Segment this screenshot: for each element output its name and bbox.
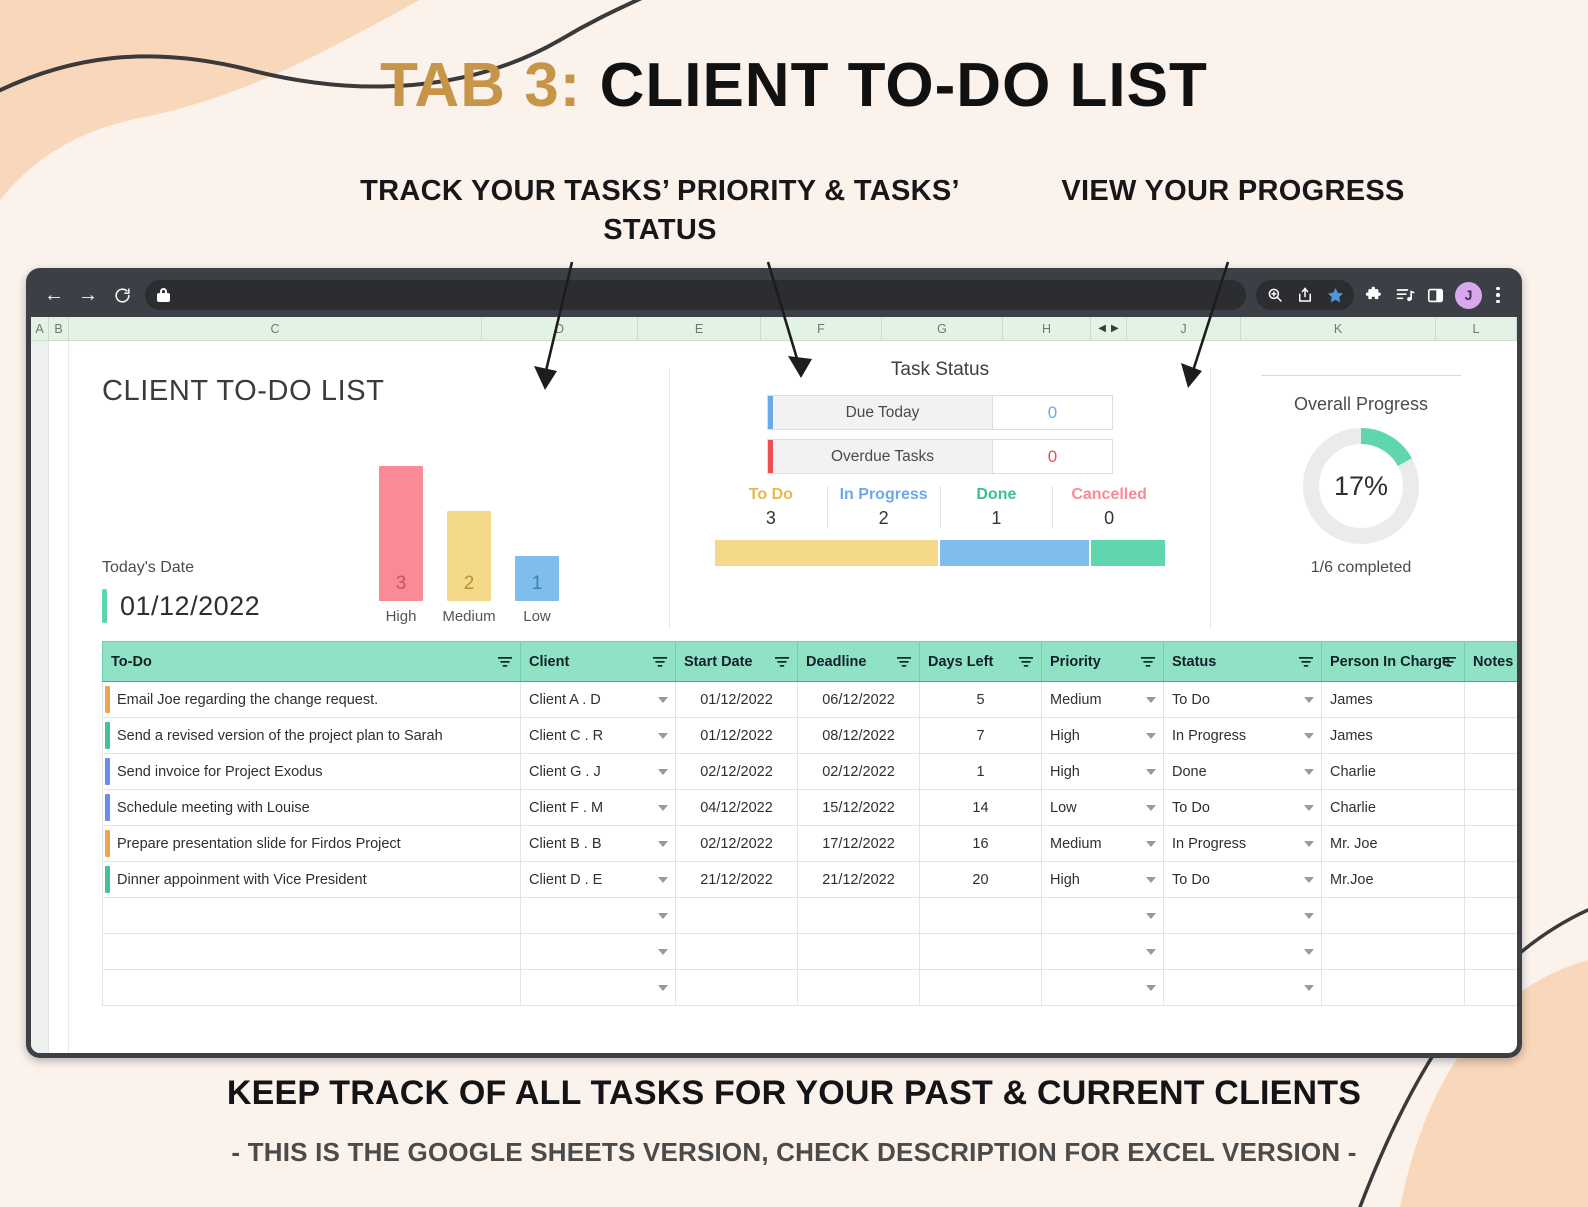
cell-start-date[interactable]: 02/12/2022 [676,754,798,790]
table-row[interactable] [103,898,1518,934]
overall-progress-title: Overall Progress [1211,394,1511,415]
priority-bar-chart: 3High2Medium1Low [379,466,559,625]
cell-deadline[interactable] [798,898,920,934]
cell-priority[interactable]: High [1042,718,1164,754]
lock-icon [157,288,170,302]
dropdown-arrow-icon[interactable] [1146,697,1156,703]
column-header-g[interactable]: G [882,317,1003,340]
caption-sub: - THIS IS THE GOOGLE SHEETS VERSION, CHE… [0,1137,1588,1168]
dropdown-arrow-icon[interactable] [1304,949,1314,955]
column-header-to-do[interactable]: To-Do [103,642,521,682]
row-gutter-a [31,341,49,1053]
filter-icon[interactable] [498,656,512,668]
cell-notes[interactable] [1465,970,1518,1006]
cell-days-left[interactable]: 20 [920,862,1042,898]
row-accent-bar [105,722,110,749]
filter-icon[interactable] [897,656,911,668]
table-row[interactable]: Prepare presentation slide for Firdos Pr… [103,826,1518,862]
priority-bar-label-low: Low [523,608,551,625]
dropdown-arrow-icon[interactable] [1304,697,1314,703]
status-legend-value: 2 [828,508,940,529]
cell-status[interactable] [1164,898,1322,934]
cell-days-left[interactable]: 7 [920,718,1042,754]
cell-days-left[interactable] [920,934,1042,970]
cell-priority[interactable]: Medium [1042,682,1164,718]
dashboard: CLIENT TO-DO LIST Today's Date 01/12/202… [69,341,1511,641]
cell-notes[interactable] [1465,754,1518,790]
cell-status[interactable]: To Do [1164,862,1322,898]
dropdown-arrow-icon[interactable] [658,841,668,847]
dropdown-arrow-icon[interactable] [1304,877,1314,883]
address-bar[interactable] [145,280,1246,310]
cell-client[interactable] [521,898,676,934]
dropdown-arrow-icon[interactable] [1304,805,1314,811]
progress-rule [1261,375,1461,376]
cell-start-date[interactable]: 02/12/2022 [676,826,798,862]
status-legend-cancelled: Cancelled0 [1053,486,1165,529]
cell-priority[interactable] [1042,970,1164,1006]
cell-person-in-charge[interactable]: James [1322,718,1465,754]
column-header-c[interactable]: C [69,317,482,340]
row-accent-bar [105,866,110,893]
cell-days-left[interactable]: 14 [920,790,1042,826]
status-legend-label: Cancelled [1053,486,1165,504]
cell-client[interactable]: Client G . J [521,754,676,790]
column-header-deadline[interactable]: Deadline [798,642,920,682]
kpi-label: Due Today [773,396,992,429]
cell-priority[interactable]: High [1042,862,1164,898]
column-header-person-in-charge[interactable]: Person In Charge [1322,642,1465,682]
status-legend-label: To Do [715,486,827,504]
column-header-a[interactable]: A [31,317,49,340]
status-legend-in-progress: In Progress2 [828,486,941,529]
cell-deadline[interactable]: 21/12/2022 [798,862,920,898]
dropdown-arrow-icon[interactable] [658,769,668,775]
cell-notes[interactable] [1465,934,1518,970]
column-header-l[interactable]: L [1436,317,1517,340]
dropdown-arrow-icon[interactable] [1146,877,1156,883]
cell-client[interactable]: Client B . B [521,826,676,862]
column-header-notes[interactable]: Notes [1465,642,1518,682]
cell-client[interactable]: Client F . M [521,790,676,826]
cell-days-left[interactable] [920,898,1042,934]
todays-date-field[interactable]: 01/12/2022 [102,589,260,623]
page-title-highlight: TAB 3: [380,51,581,120]
cell-notes[interactable] [1465,790,1518,826]
cell-start-date[interactable]: 04/12/2022 [676,790,798,826]
cell-notes[interactable] [1465,862,1518,898]
spreadsheet: A B C D E F G H ◀▶ J K L CLIENT TO-DO LI… [31,317,1517,1053]
dropdown-arrow-icon[interactable] [658,697,668,703]
task-status-panel: Task Status Due Today0Overdue Tasks0 To … [670,355,1210,641]
status-legend: To Do3In Progress2Done1Cancelled0 [715,486,1165,529]
row-accent-bar [105,830,110,857]
callout-right-text: VIEW YOUR PROGRESS [1058,172,1408,211]
status-legend-to-do: To Do3 [715,486,828,529]
dashboard-left-panel: CLIENT TO-DO LIST Today's Date 01/12/202… [69,355,669,641]
cell-notes[interactable] [1465,898,1518,934]
cell-person-in-charge[interactable]: James [1322,682,1465,718]
column-header-days-left[interactable]: Days Left [920,642,1042,682]
reading-list-icon[interactable] [1390,280,1420,310]
cell-client[interactable]: Client C . R [521,718,676,754]
column-header-label: Priority [1050,654,1101,670]
column-header-label: To-Do [111,654,152,670]
status-legend-label: In Progress [828,486,940,504]
status-legend-done: Done1 [941,486,1054,529]
priority-bar-low: 1Low [515,556,559,625]
dropdown-arrow-icon[interactable] [1146,733,1156,739]
priority-bar-value-low: 1 [515,556,559,601]
cell-person-in-charge[interactable]: Mr.Joe [1322,862,1465,898]
cell-client[interactable]: Client A . D [521,682,676,718]
cell-deadline[interactable]: 08/12/2022 [798,718,920,754]
cell-todo[interactable]: Email Joe regarding the change request. [103,682,521,718]
kpi-label: Overdue Tasks [773,440,992,473]
cell-notes[interactable] [1465,718,1518,754]
dropdown-arrow-icon[interactable] [1304,733,1314,739]
cell-todo[interactable]: Send a revised version of the project pl… [103,718,521,754]
cell-days-left[interactable]: 16 [920,826,1042,862]
cell-start-date[interactable]: 21/12/2022 [676,862,798,898]
search-icon[interactable] [1260,280,1290,310]
cell-days-left[interactable]: 5 [920,682,1042,718]
cell-todo[interactable]: Schedule meeting with Louise [103,790,521,826]
status-legend-value: 1 [941,508,1053,529]
cell-status[interactable]: Done [1164,754,1322,790]
column-header-f[interactable]: F [761,317,882,340]
todo-table-zone: To-DoClientStart DateDeadlineDays LeftPr… [69,641,1511,1053]
cell-todo[interactable] [103,970,521,1006]
cell-person-in-charge[interactable] [1322,934,1465,970]
cell-status[interactable] [1164,934,1322,970]
cell-status[interactable]: To Do [1164,682,1322,718]
cell-deadline[interactable]: 06/12/2022 [798,682,920,718]
kpi-value: 0 [992,396,1112,429]
status-legend-value: 3 [715,508,827,529]
back-arrow-icon[interactable]: ← [37,278,71,312]
todays-date-value: 01/12/2022 [120,591,260,622]
status-stacked-bar [715,540,1165,566]
filter-icon[interactable] [1442,656,1456,668]
table-row[interactable] [103,934,1518,970]
collapse-left-icon: ◀ [1098,323,1106,334]
sheet-title: CLIENT TO-DO LIST [102,375,669,408]
row-gutter-b [49,341,69,1053]
cell-deadline[interactable] [798,970,920,1006]
filter-icon[interactable] [1299,656,1313,668]
row-accent-bar [105,794,110,821]
status-legend-label: Done [941,486,1053,504]
cell-todo[interactable]: Dinner appoinment with Vice President [103,862,521,898]
cell-days-left[interactable]: 1 [920,754,1042,790]
kpi-overdue-tasks: Overdue Tasks0 [767,439,1113,474]
dropdown-arrow-icon[interactable] [1146,841,1156,847]
task-status-title: Task Status [670,359,1210,381]
filter-icon[interactable] [775,656,789,668]
column-header-e[interactable]: E [638,317,761,340]
callout-group: TRACK YOUR TASKS’ PRIORITY & TASKS’ STAT… [0,172,1588,262]
spreadsheet-column-headers: A B C D E F G H ◀▶ J K L [31,317,1517,341]
filter-icon[interactable] [1019,656,1033,668]
kebab-menu-icon[interactable] [1487,287,1509,304]
dropdown-arrow-icon[interactable] [658,805,668,811]
cell-deadline[interactable]: 17/12/2022 [798,826,920,862]
todo-table-body: Email Joe regarding the change request.C… [103,682,1518,1006]
dropdown-arrow-icon[interactable] [1146,985,1156,991]
cell-todo[interactable] [103,934,521,970]
table-row[interactable]: Send invoice for Project ExodusClient G … [103,754,1518,790]
table-row[interactable]: Schedule meeting with LouiseClient F . M… [103,790,1518,826]
filter-icon[interactable] [653,656,667,668]
progress-subtext: 1/6 completed [1211,559,1511,577]
progress-donut-chart: 17% [1299,424,1423,548]
status-legend-value: 0 [1053,508,1165,529]
browser-window: ← → [26,268,1522,1058]
cell-start-date[interactable] [676,934,798,970]
status-stack-segment-in-progress [940,540,1089,566]
side-panel-icon[interactable] [1420,280,1450,310]
overall-progress-panel: Overall Progress 17% 1/6 completed [1211,355,1511,641]
dropdown-arrow-icon[interactable] [1146,913,1156,919]
column-header-start-date[interactable]: Start Date [676,642,798,682]
cell-priority[interactable]: Medium [1042,826,1164,862]
dropdown-arrow-icon[interactable] [1304,769,1314,775]
extensions-puzzle-icon[interactable] [1360,280,1390,310]
status-stack-segment-to-do [715,540,938,566]
cell-todo[interactable]: Send invoice for Project Exodus [103,754,521,790]
row-accent-bar [105,686,110,713]
cell-priority[interactable]: Low [1042,790,1164,826]
cell-priority[interactable] [1042,898,1164,934]
column-header-label: Person In Charge [1330,654,1450,670]
column-header-b[interactable]: B [49,317,69,340]
cell-deadline[interactable] [798,934,920,970]
reload-icon[interactable] [105,278,139,312]
cell-start-date[interactable] [676,898,798,934]
column-header-k[interactable]: K [1241,317,1436,340]
cell-priority[interactable]: High [1042,754,1164,790]
dropdown-arrow-icon[interactable] [658,913,668,919]
status-stack-segment-done [1091,540,1165,566]
share-icon[interactable] [1290,280,1320,310]
callout-left-text: TRACK YOUR TASKS’ PRIORITY & TASKS’ STAT… [330,172,990,250]
priority-bar-value-high: 3 [379,466,423,601]
row-accent-bar [105,758,110,785]
filter-icon[interactable] [1141,656,1155,668]
cell-deadline[interactable]: 15/12/2022 [798,790,920,826]
cell-todo[interactable] [103,898,521,934]
kpi-group: Due Today0Overdue Tasks0 [767,395,1113,474]
dropdown-arrow-icon[interactable] [1146,949,1156,955]
column-header-j[interactable]: J [1127,317,1241,340]
forward-arrow-icon[interactable]: → [71,278,105,312]
date-accent-bar [102,589,107,623]
cell-client[interactable] [521,970,676,1006]
dropdown-arrow-icon[interactable] [1146,805,1156,811]
column-header-priority[interactable]: Priority [1042,642,1164,682]
cell-person-in-charge[interactable]: Mr. Joe [1322,826,1465,862]
cell-person-in-charge[interactable]: Charlie [1322,754,1465,790]
cell-status[interactable]: In Progress [1164,718,1322,754]
table-row[interactable] [103,970,1518,1006]
cell-person-in-charge[interactable] [1322,970,1465,1006]
cell-status[interactable]: In Progress [1164,826,1322,862]
cell-client[interactable] [521,934,676,970]
column-header-label: Notes [1473,654,1513,670]
dropdown-arrow-icon[interactable] [1304,913,1314,919]
priority-bar-medium: 2Medium [447,511,491,625]
page-title-rest: CLIENT TO-DO LIST [581,51,1208,120]
todo-table: To-DoClientStart DateDeadlineDays LeftPr… [102,641,1517,1006]
cell-person-in-charge[interactable] [1322,898,1465,934]
column-header-d[interactable]: D [482,317,638,340]
dropdown-arrow-icon[interactable] [658,949,668,955]
dropdown-arrow-icon[interactable] [658,985,668,991]
column-header-label: Client [529,654,569,670]
cell-status[interactable] [1164,970,1322,1006]
cell-days-left[interactable] [920,970,1042,1006]
cell-client[interactable]: Client D . E [521,862,676,898]
dropdown-arrow-icon[interactable] [658,877,668,883]
dropdown-arrow-icon[interactable] [1304,985,1314,991]
column-header-label: Status [1172,654,1216,670]
bookmark-star-icon[interactable] [1320,280,1350,310]
todo-table-header-row: To-DoClientStart DateDeadlineDays LeftPr… [103,642,1518,682]
todays-date-label: Today's Date [102,559,194,577]
column-header-status[interactable]: Status [1164,642,1322,682]
page-title: TAB 3: CLIENT TO-DO LIST [0,50,1588,121]
kpi-due-today: Due Today0 [767,395,1113,430]
cell-priority[interactable] [1042,934,1164,970]
cell-start-date[interactable] [676,970,798,1006]
column-header-label: Start Date [684,654,753,670]
caption-main: KEEP TRACK OF ALL TASKS FOR YOUR PAST & … [0,1074,1588,1113]
column-header-label: Days Left [928,654,993,670]
collapsed-column-toggle[interactable]: ◀▶ [1091,317,1127,340]
collapse-right-icon: ▶ [1111,323,1119,334]
avatar[interactable]: J [1455,282,1482,309]
table-row[interactable]: Dinner appoinment with Vice PresidentCli… [103,862,1518,898]
column-header-client[interactable]: Client [521,642,676,682]
cell-notes[interactable] [1465,826,1518,862]
cell-deadline[interactable]: 02/12/2022 [798,754,920,790]
progress-percent: 17% [1299,424,1423,548]
column-header-h[interactable]: H [1003,317,1091,340]
priority-bar-high: 3High [379,466,423,625]
kpi-value: 0 [992,440,1112,473]
browser-toolbar: ← → [31,273,1517,317]
table-row[interactable]: Send a revised version of the project pl… [103,718,1518,754]
priority-bar-value-medium: 2 [447,511,491,601]
dropdown-arrow-icon[interactable] [1304,841,1314,847]
cell-status[interactable]: To Do [1164,790,1322,826]
omnibox-action-chip [1256,280,1354,310]
dropdown-arrow-icon[interactable] [658,733,668,739]
priority-bar-label-medium: Medium [442,608,495,625]
cell-start-date[interactable]: 01/12/2022 [676,718,798,754]
cell-notes[interactable] [1465,682,1518,718]
priority-bar-label-high: High [386,608,417,625]
dropdown-arrow-icon[interactable] [1146,769,1156,775]
cell-todo[interactable]: Prepare presentation slide for Firdos Pr… [103,826,521,862]
cell-person-in-charge[interactable]: Charlie [1322,790,1465,826]
table-row[interactable]: Email Joe regarding the change request.C… [103,682,1518,718]
cell-start-date[interactable]: 01/12/2022 [676,682,798,718]
column-header-label: Deadline [806,654,866,670]
